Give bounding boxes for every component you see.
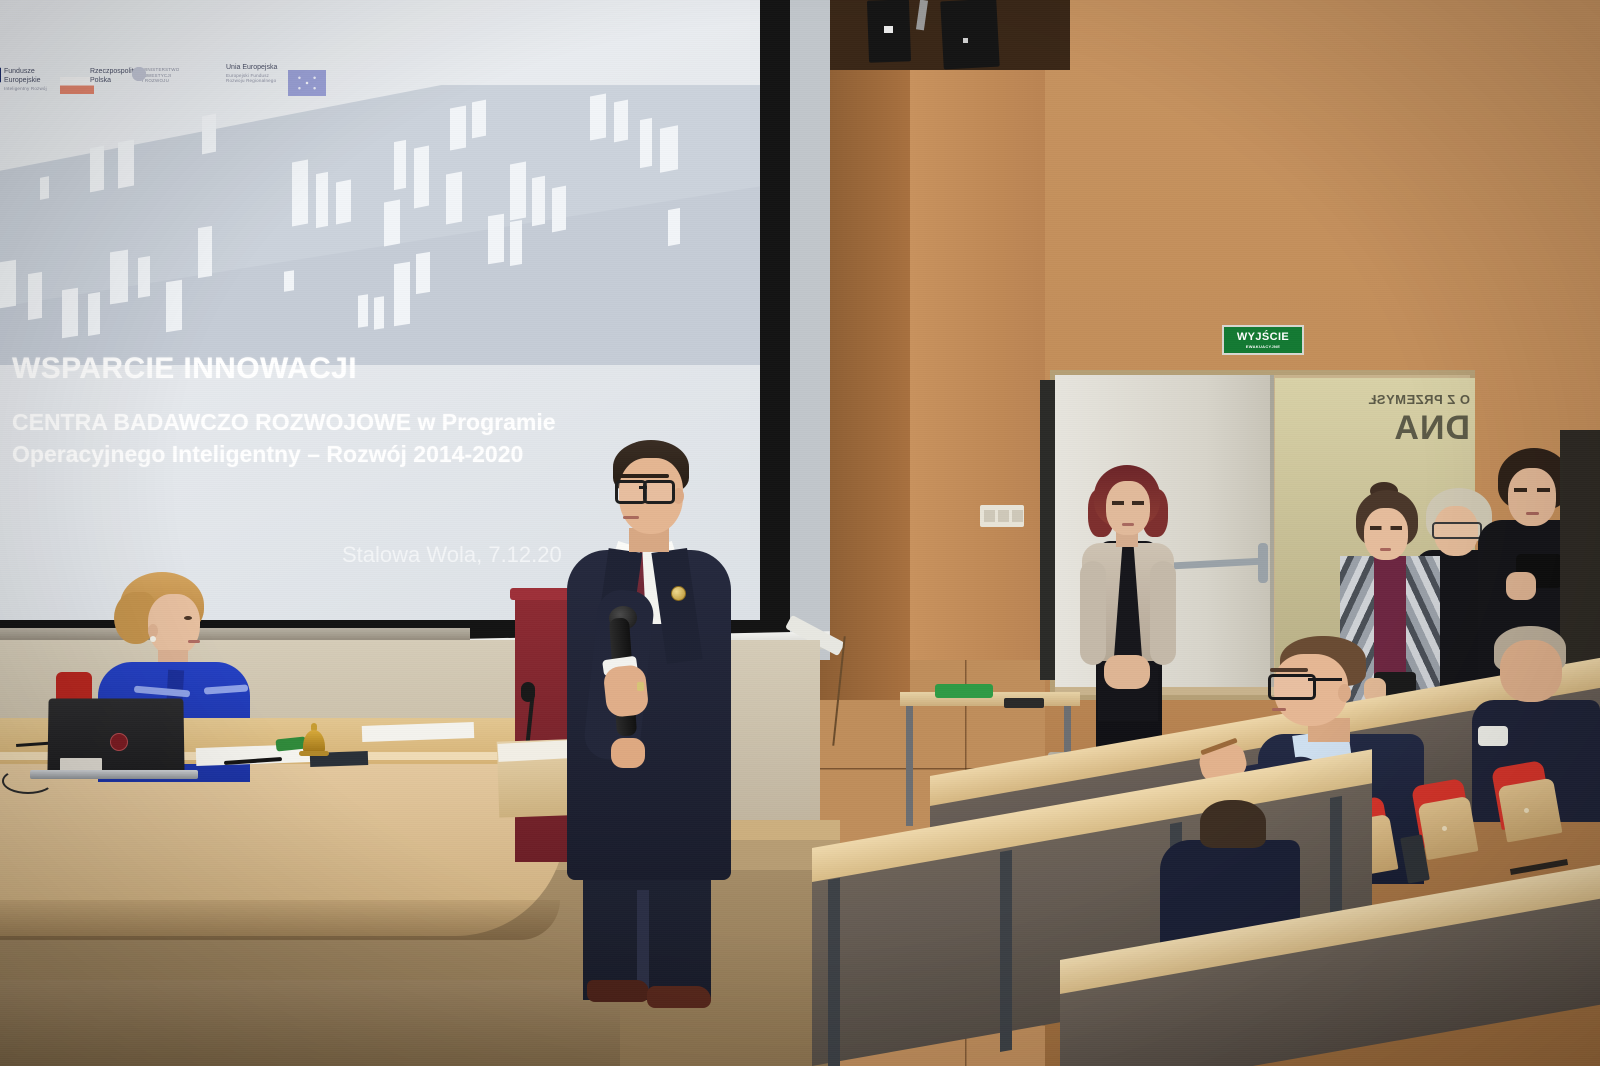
door-mirror-top-text: O Z PRZEMYSŁ (1320, 392, 1470, 407)
slide-facade-graphic (0, 85, 760, 365)
logo-ministerstwo: MINISTERSTWO INWESTYCJI I ROZWOJU (142, 67, 179, 84)
clasped-hands (1104, 655, 1150, 689)
floor-riser (0, 980, 620, 1066)
lecture-hall-photo: Fundusze Europejskie Inteligentny Rozwój… (0, 0, 1600, 1066)
lapel-pin-icon (671, 586, 686, 601)
wall-shade-b (910, 0, 1050, 660)
outlet-socket-3[interactable] (1012, 510, 1023, 522)
person-speaker (565, 440, 745, 1000)
seat-stud-3 (1442, 826, 1447, 831)
eyebrows (617, 474, 669, 478)
arm-left (1080, 561, 1106, 665)
side-table-leg-left (906, 706, 913, 826)
desk-leg-1 (828, 878, 840, 1066)
polish-eagle-icon (132, 67, 146, 87)
exit-sign-main-text: WYJŚCIE (1237, 332, 1289, 343)
shoe-right (647, 986, 711, 1008)
fundusze-europejskie-mark-icon (0, 64, 1, 86)
desk-leg-2 (1000, 850, 1012, 1052)
ring (637, 682, 644, 691)
logo-rzeczpospolita-polska: Rzeczpospolita Polska (90, 68, 137, 86)
presidium-table-shadow (0, 900, 560, 940)
eyeglasses-right-lens (643, 480, 675, 504)
mouth (188, 640, 200, 643)
logo-unia-europejska: Unia Europejska Europejski Fundusz Rozwo… (226, 64, 277, 84)
face (1106, 481, 1150, 535)
face (1364, 508, 1408, 560)
cable-loop (2, 768, 54, 794)
mouth (1526, 512, 1539, 515)
hand (1506, 572, 1536, 600)
dell-logo-icon (110, 733, 128, 751)
door-mirror-big-text: DNA (1320, 411, 1470, 445)
door-handle-vertical[interactable] (1258, 543, 1268, 583)
mouth (623, 516, 639, 519)
eyes (1112, 501, 1144, 505)
eyeglasses-temple (1308, 678, 1342, 681)
seat-stud-4 (1524, 808, 1529, 813)
slide-text-block: WSPARCIE INNOWACJI CENTRA BADAWCZO ROZWO… (12, 352, 572, 470)
eye (184, 616, 192, 620)
shoe-left (587, 980, 649, 1002)
arm-right (1150, 561, 1176, 665)
exit-sign-sub-text: EWAKUACYJNE (1246, 344, 1280, 349)
emergency-exit-sign: WYJŚCIE EWAKUACYJNE (1222, 325, 1304, 355)
eyeglasses-bridge (639, 486, 647, 489)
slide-subtitle: CENTRA BADAWCZO ROZWOJOWE w Programie Op… (12, 407, 572, 470)
mouth (1380, 548, 1391, 551)
door-mirrored-signage: O Z PRZEMYSŁ DNA (1320, 392, 1470, 482)
mouth (1122, 523, 1134, 526)
dark-object-on-table (1004, 698, 1044, 708)
ear (1338, 684, 1351, 702)
ceiling-speaker-right (940, 0, 999, 69)
auditorium-seat-back-4[interactable] (1498, 778, 1563, 843)
speaker-badge-icon-2 (963, 38, 968, 43)
hand-holding-microphone (603, 664, 650, 718)
laptop-base[interactable] (30, 770, 198, 779)
face (1500, 640, 1562, 702)
earring (150, 636, 156, 642)
second-hand (611, 738, 645, 768)
slide-title: WSPARCIE INNOWACJI (12, 352, 572, 385)
outlet-socket-2[interactable] (998, 510, 1009, 522)
shirt-cuff (1478, 726, 1508, 746)
face (1508, 468, 1556, 526)
head (1200, 800, 1266, 848)
mouth (1272, 708, 1286, 711)
bell-base (299, 751, 329, 756)
outlet-socket-1[interactable] (984, 510, 995, 522)
eyes (1514, 488, 1550, 492)
lectern-microphone-head (521, 682, 535, 702)
auditorium-seat-back-3[interactable] (1418, 796, 1479, 860)
eyes (1370, 526, 1402, 530)
speaker-badge-icon (884, 26, 893, 33)
green-object-on-table (935, 684, 993, 698)
eyebrow (1270, 668, 1308, 672)
